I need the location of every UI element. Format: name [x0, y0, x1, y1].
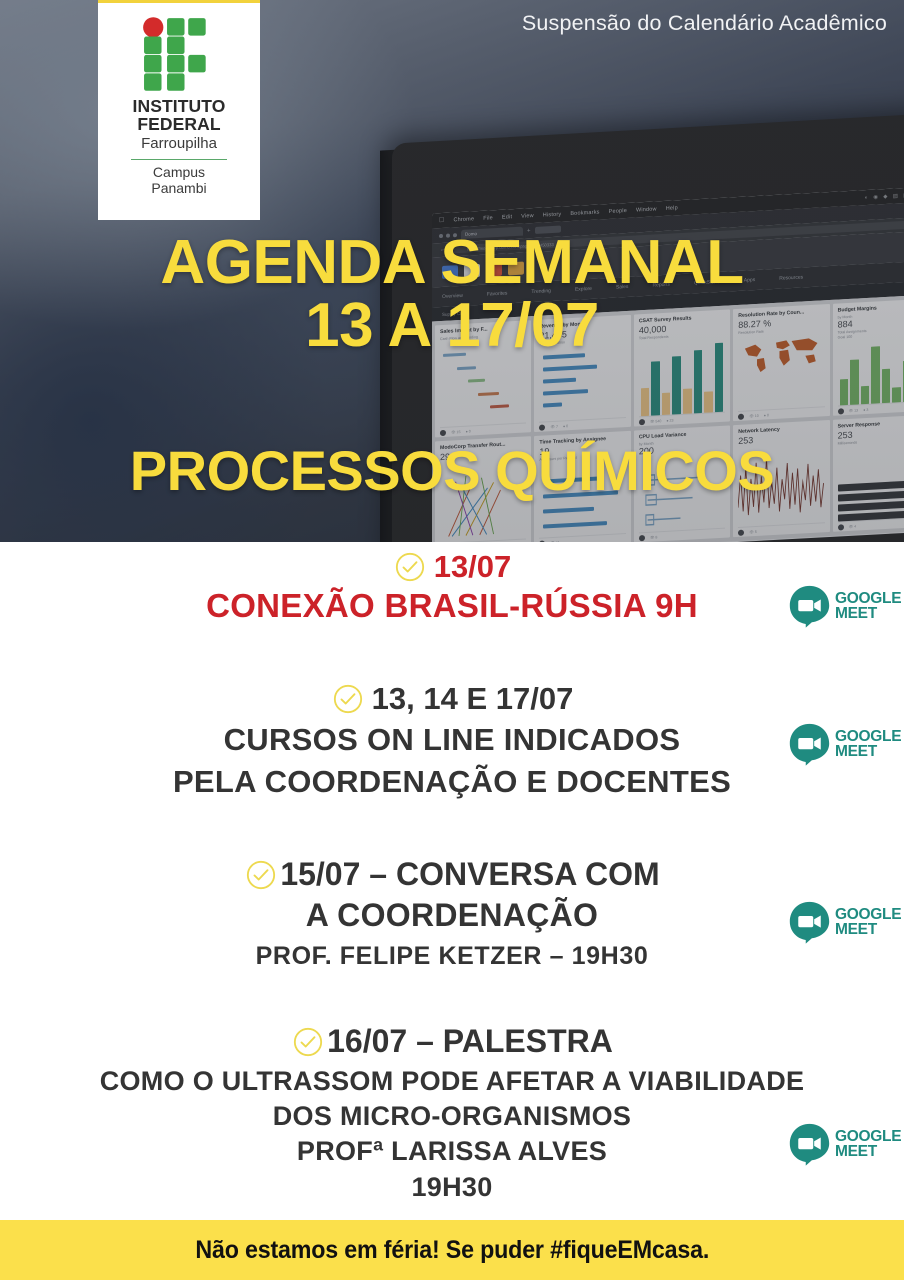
event-line-1: CONEXÃO BRASIL-RÚSSIA 9H: [0, 588, 904, 625]
check-circle-icon: [393, 550, 427, 584]
event-item: 15/07 – CONVERSA COM A COORDENAÇÃO PROF.…: [0, 858, 904, 970]
logo-divider: [131, 159, 227, 161]
event-date-row: 13, 14 E 17/07: [0, 682, 904, 716]
check-circle-icon: [331, 682, 365, 716]
page-title-line1: AGENDA SEMANAL: [160, 228, 743, 297]
logo-farroupilha: Farroupilha: [141, 135, 217, 153]
check-circle-icon: [244, 858, 278, 892]
page-title: AGENDA SEMANAL 13 A 17/07: [0, 233, 904, 357]
suspension-notice: Suspensão do Calendário Acadêmico: [522, 11, 887, 36]
event-date: 13/07: [434, 551, 512, 584]
page-subtitle: PROCESSOS QUÍMICOS: [0, 443, 904, 499]
event-date: 15/07 – CONVERSA COM: [280, 858, 659, 892]
page-title-line2: 13 A 17/07: [0, 296, 904, 357]
institution-logo: INSTITUTO FEDERAL Farroupilha Campus Pan…: [98, 0, 260, 220]
event-date: 13, 14 E 17/07: [372, 683, 574, 716]
meet-word-meet: MEET: [835, 1145, 901, 1160]
event-date: 16/07 – PALESTRA: [327, 1025, 613, 1059]
event-line-2: PELA COORDENAÇÃO E DOCENTES: [0, 765, 904, 800]
google-meet-badge[interactable]: GOOGLE MEET: [787, 584, 901, 629]
event-item: 16/07 – PALESTRA COMO O ULTRASSOM PODE A…: [0, 1025, 904, 1202]
check-circle-icon: [291, 1025, 325, 1059]
logo-campus-label: Campus: [153, 164, 205, 180]
google-meet-badge[interactable]: GOOGLE MEET: [787, 1122, 901, 1167]
event-date-row: 13/07: [0, 550, 904, 584]
event-line-2: PROF. FELIPE KETZER – 19H30: [0, 942, 904, 970]
event-date-row: 16/07 – PALESTRA: [0, 1025, 904, 1059]
google-meet-badge[interactable]: GOOGLE MEET: [787, 900, 901, 945]
footer-message: Não estamos em féria! Se puder #fiqueEMc…: [195, 1236, 709, 1265]
meet-label: GOOGLE MEET: [835, 730, 901, 759]
event-line-4: 19H30: [0, 1172, 904, 1202]
logo-federal: FEDERAL: [137, 116, 220, 134]
poster:  Chrome File Edit View History Bookmark…: [0, 0, 904, 1280]
event-item: 13/07 CONEXÃO BRASIL-RÚSSIA 9H: [0, 550, 904, 625]
event-line-1: COMO O ULTRASSOM PODE AFETAR A VIABILIDA…: [0, 1066, 904, 1096]
meet-label: GOOGLE MEET: [835, 1130, 901, 1159]
meet-bubble-icon: [787, 722, 832, 767]
event-line-1: A COORDENAÇÃO: [0, 898, 904, 934]
logo-campus-name: Panambi: [151, 180, 206, 196]
meet-label: GOOGLE MEET: [835, 908, 901, 937]
google-meet-badge[interactable]: GOOGLE MEET: [787, 722, 901, 767]
meet-bubble-icon: [787, 584, 832, 629]
event-date-row: 15/07 – CONVERSA COM: [0, 858, 904, 892]
event-line-3: PROFª LARISSA ALVES: [0, 1136, 904, 1166]
meet-word-meet: MEET: [835, 923, 901, 938]
meet-word-meet: MEET: [835, 745, 901, 760]
meet-bubble-icon: [787, 900, 832, 945]
events-list: 13/07 CONEXÃO BRASIL-RÚSSIA 9H 13, 14 E …: [0, 542, 904, 1220]
event-line-2: DOS MICRO-ORGANISMOS: [0, 1101, 904, 1131]
event-item: 13, 14 E 17/07 CURSOS ON LINE INDICADOS …: [0, 682, 904, 799]
event-line-1: CURSOS ON LINE INDICADOS: [0, 723, 904, 758]
footer-banner: Não estamos em féria! Se puder #fiqueEMc…: [0, 1220, 904, 1280]
meet-word-meet: MEET: [835, 607, 901, 622]
meet-bubble-icon: [787, 1122, 832, 1167]
meet-label: GOOGLE MEET: [835, 592, 901, 621]
if-pixel-mark-icon: [133, 17, 225, 91]
